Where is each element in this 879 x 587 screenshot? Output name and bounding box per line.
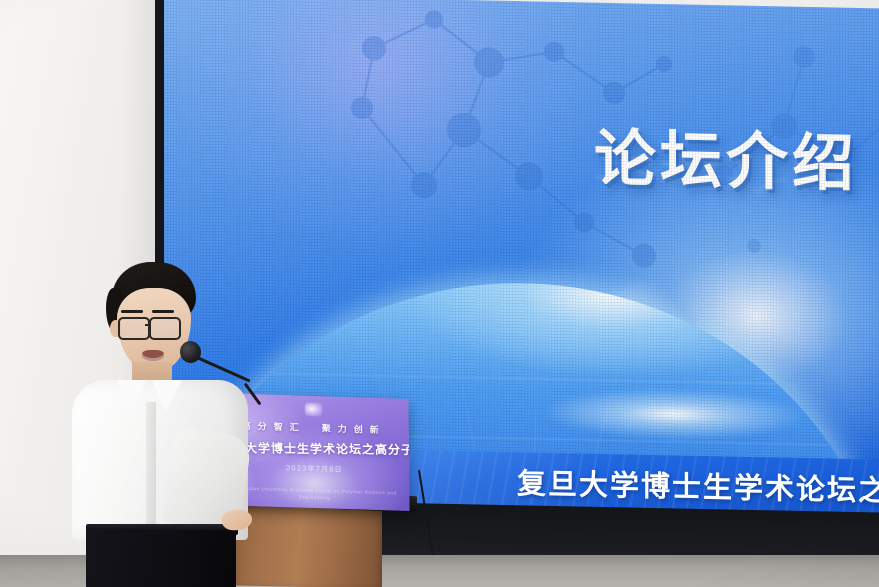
- speaker-brow-left: [121, 310, 143, 313]
- speaker-trousers: [86, 530, 236, 587]
- eyeglasses-icon: [118, 317, 150, 340]
- light-flare-icon: [544, 387, 804, 442]
- shirt-placket: [146, 402, 156, 542]
- eyeglasses-bridge: [145, 324, 151, 326]
- screen-title: 论坛介绍: [594, 108, 858, 203]
- speaker-brow-right: [152, 310, 174, 313]
- speaker-hand: [221, 508, 253, 532]
- speaker-mouth: [142, 350, 164, 361]
- speaker-figure: [60, 262, 270, 587]
- fudan-logo-icon: [305, 403, 322, 417]
- photo-scene: 论坛介绍 论坛介绍 复旦大学博士生学术论坛之高分子篇 UNIVERSITY 高分…: [0, 0, 879, 587]
- eyeglasses-right-lens: [149, 317, 181, 340]
